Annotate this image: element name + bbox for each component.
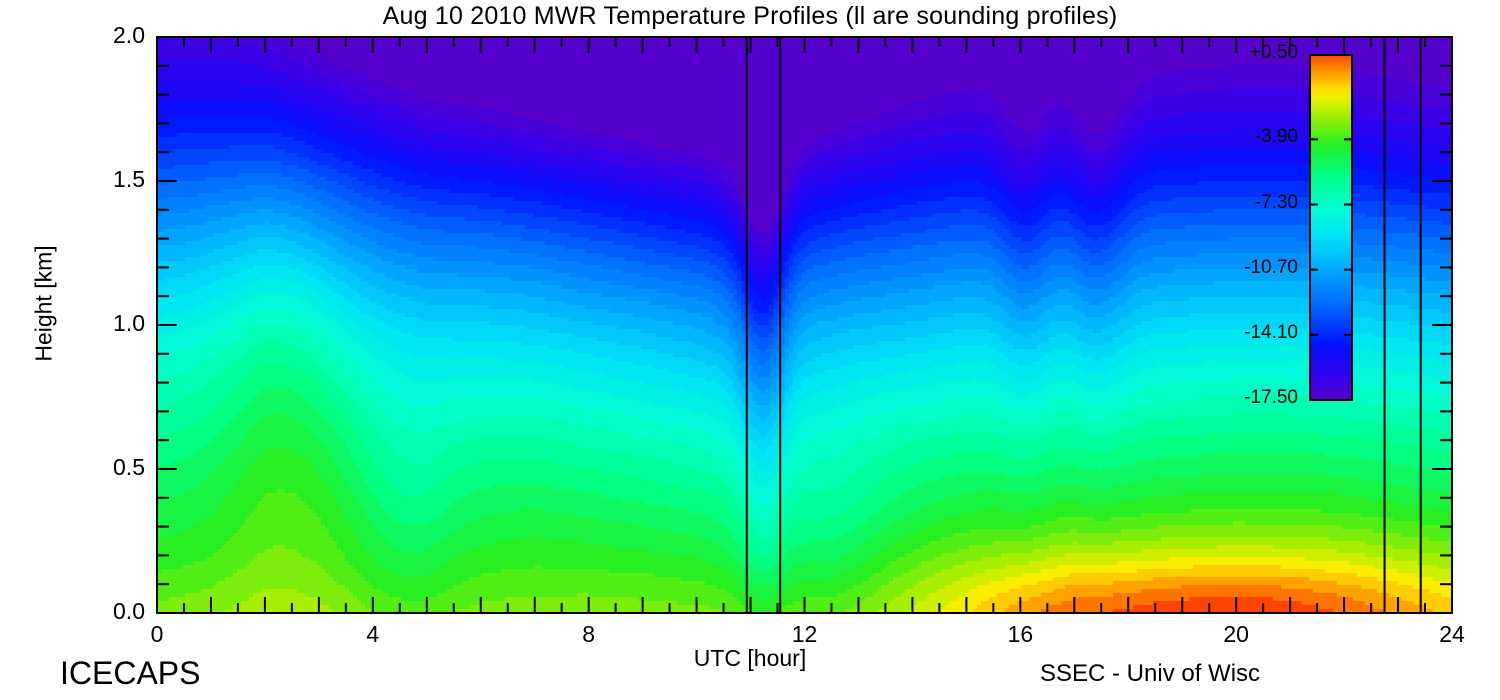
- y-tick-label: 1.0: [15, 310, 145, 337]
- x-tick-label: 8: [549, 621, 629, 648]
- colorbar-tick-label: +0.50: [1198, 42, 1298, 64]
- y-tick-label: 2.0: [15, 22, 145, 49]
- contour-plot-canvas: [0, 0, 1500, 700]
- x-tick-label: 24: [1412, 621, 1492, 648]
- mwr-temperature-profile-figure: Aug 10 2010 MWR Temperature Profiles (ll…: [0, 0, 1500, 700]
- colorbar-tick-label: -7.30: [1198, 192, 1298, 214]
- y-tick-label: 0.5: [15, 454, 145, 481]
- x-tick-label: 12: [765, 621, 845, 648]
- x-tick-label: 16: [980, 621, 1060, 648]
- y-tick-label: 1.5: [15, 166, 145, 193]
- colorbar-tick-label: -10.70: [1198, 257, 1298, 279]
- colorbar-tick-label: -14.10: [1198, 322, 1298, 344]
- colorbar-tick-label: -3.90: [1198, 126, 1298, 148]
- colorbar: [1310, 55, 1352, 400]
- colorbar-gradient: [1310, 55, 1352, 400]
- colorbar-tick-label: -17.50: [1198, 387, 1298, 409]
- x-tick-label: 4: [333, 621, 413, 648]
- x-tick-label: 20: [1196, 621, 1276, 648]
- x-tick-label: 0: [117, 621, 197, 648]
